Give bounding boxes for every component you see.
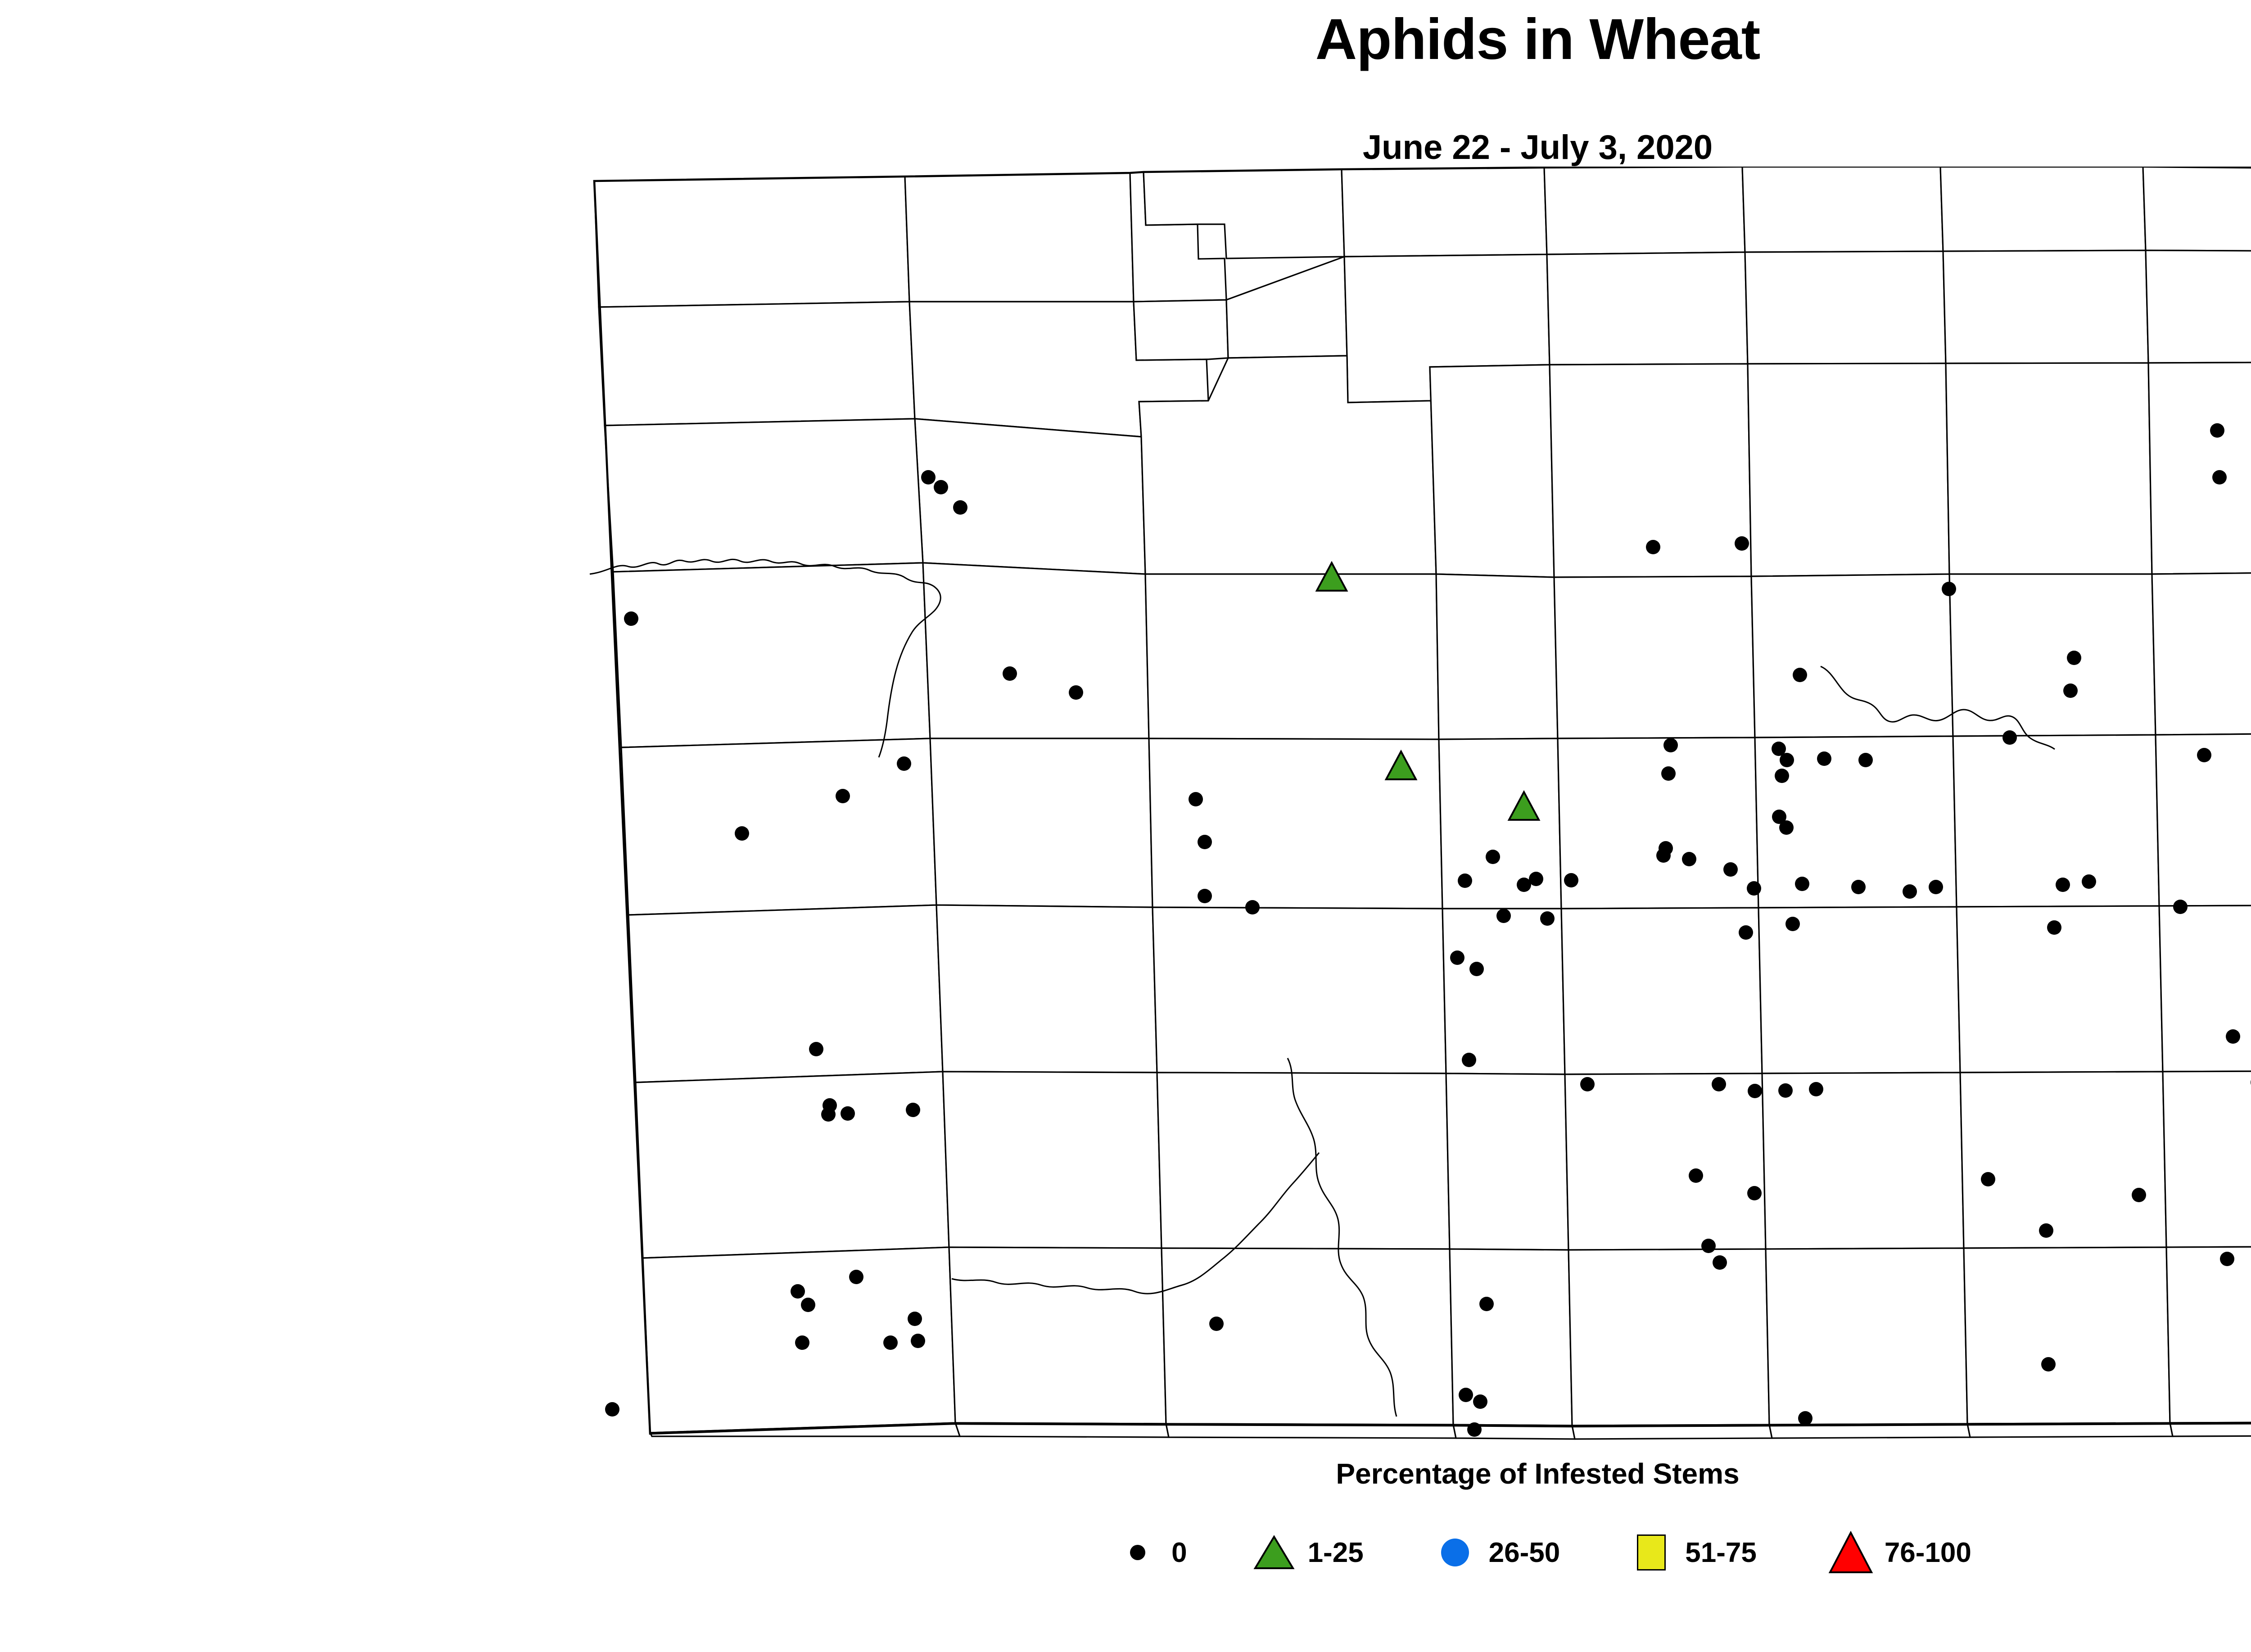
map-marker-zero [1663,738,1678,752]
map-marker-zero [1198,835,1212,849]
map-marker-zero [2197,748,2211,762]
map-marker-zero [1712,1077,1726,1091]
map-marker-zero [1739,925,1753,940]
map-marker-zero [1747,1186,1762,1200]
map-marker-zero [1929,880,1943,894]
map-marker-zero [2047,920,2061,935]
map-marker-zero [801,1298,815,1312]
map-marker-zero [2063,683,2078,698]
map-marker-zero [1479,1297,1494,1311]
page-subtitle: June 22 - July 3, 2020 [0,131,2251,165]
legend-dot-icon [1104,1545,1171,1560]
legend-item-1-25[interactable]: 1-25 [1240,1535,1364,1570]
map-marker-zero [1540,911,1555,926]
map-marker-zero [1795,877,1809,891]
map-marker-zero [934,480,948,494]
map-marker-zero [1780,753,1794,767]
legend-item-76-100[interactable]: 76-100 [1817,1531,1971,1574]
map-marker-zero [2056,878,2070,892]
north-dakota-county-map [0,167,2251,1441]
map-marker-zero [1748,1084,1762,1098]
map-marker-zero [1817,751,1831,766]
map-container [0,167,2251,1441]
map-marker-zero [1701,1239,1716,1253]
map-marker-zero [624,611,638,626]
map-marker-zero [1198,889,1212,903]
legend-red-triangle-icon [1817,1531,1885,1574]
map-marker-zero [1656,848,1671,863]
map-marker-zero [795,1335,809,1350]
map-marker-zero [791,1284,805,1299]
map-marker-zero [1793,668,1807,682]
map-marker-zero [1003,666,1017,681]
map-marker-zero [1851,880,1866,894]
map-marker-zero [841,1106,855,1121]
map-marker-zero [1458,874,1472,888]
map-marker-zero [821,1107,836,1122]
map-marker-zero [1798,1411,1813,1426]
map-marker-zero [2210,423,2224,438]
map-marker-zero [1189,792,1203,806]
map-marker-zero [906,1103,920,1117]
map-marker-zero [1245,900,1260,914]
map-marker-zero [1747,881,1761,896]
map-marker-zero [2173,900,2188,914]
map-marker-zero [809,1042,823,1056]
map-marker-zero [1713,1255,1727,1270]
map-marker-zero [1775,769,1789,783]
legend-label-76-100: 76-100 [1885,1537,1971,1569]
map-marker-zero [1735,536,1749,551]
map-marker-zero [1778,1083,1793,1098]
map-marker-zero [2212,470,2227,484]
map-marker-zero [605,1402,619,1417]
map-marker-zero [883,1335,898,1350]
map-marker-zero [1467,1422,1482,1437]
legend-green-triangle-icon [1240,1535,1308,1570]
legend-blue-circle-icon [1421,1539,1489,1566]
map-marker-zero [1462,1053,1476,1067]
legend-label-1-25: 1-25 [1308,1537,1364,1569]
map-marker-zero [1858,753,1873,767]
legend-item-0[interactable]: 0 [1104,1537,1187,1569]
map-marker-zero [2039,1223,2053,1238]
map-marker-zero [2220,1252,2234,1266]
legend-label-0: 0 [1171,1537,1187,1569]
map-marker-zero [836,789,850,803]
map-marker-zero [2132,1188,2146,1202]
map-marker-zero [921,470,936,484]
legend-title: Percentage of Infested Stems [0,1457,2251,1490]
legend-label-26-50: 26-50 [1489,1537,1560,1569]
map-marker-zero [1496,909,1511,923]
map-marker-zero [1450,950,1465,965]
map-marker-zero [1981,1172,1995,1186]
map-marker-zero [1779,820,1794,835]
map-marker-zero [1580,1077,1595,1091]
map-marker-zero [1469,962,1484,976]
map-marker-zero [1646,540,1660,554]
aphid-survey-map-page: Aphids in Wheat June 22 - July 3, 2020 [0,0,2251,1652]
map-marker-zero [1473,1394,1487,1409]
map-marker-zero [1723,862,1738,877]
legend-item-26-50[interactable]: 26-50 [1421,1537,1560,1569]
map-marker-zero [1689,1168,1703,1183]
map-marker-zero [1785,917,1800,931]
map-marker-zero [953,500,967,515]
map-marker-zero [908,1312,922,1326]
map-marker-zero [911,1334,925,1348]
page-title: Aphids in Wheat [0,11,2251,68]
map-marker-zero [735,826,749,841]
map-marker-zero [2067,651,2081,665]
map-marker-zero [2226,1029,2240,1044]
legend-item-51-75[interactable]: 51-75 [1618,1534,1757,1571]
map-marker-zero [1209,1317,1224,1331]
map-marker-zero [1942,582,1956,596]
legend-yellow-square-icon [1618,1534,1685,1571]
map-marker-zero [1809,1082,1823,1096]
map-marker-zero [1903,884,1917,899]
map-marker-zero [1564,873,1578,887]
map-marker-zero [2082,874,2096,889]
map-marker-zero [1459,1388,1473,1402]
map-marker-zero [897,756,911,771]
map-marker-zero [1529,872,1543,886]
map-marker-zero [1486,850,1500,864]
map-marker-zero [1661,766,1676,781]
legend: 0 1-25 26-50 51-75 [0,1531,2251,1574]
map-marker-zero [1682,852,1696,866]
map-marker-zero [2041,1357,2056,1371]
map-marker-zero [2002,730,2017,745]
map-marker-zero [849,1270,863,1284]
legend-label-51-75: 51-75 [1685,1537,1757,1569]
map-marker-zero [1069,685,1083,700]
